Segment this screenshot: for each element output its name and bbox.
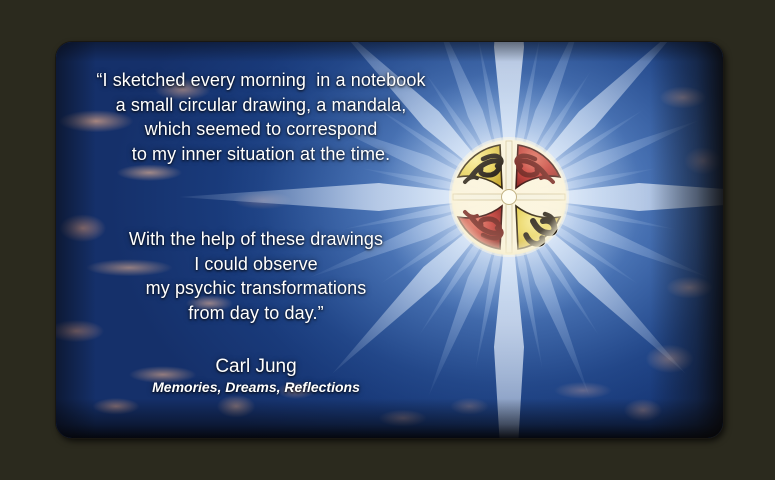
quote-line: With the help of these drawings bbox=[56, 227, 456, 252]
quote-paragraph-one: “I sketched every morning in a notebook … bbox=[56, 68, 466, 166]
quote-card: “I sketched every morning in a notebook … bbox=[56, 42, 723, 438]
quote-line: “I sketched every morning in a notebook bbox=[56, 68, 466, 93]
quote-line: a small circular drawing, a mandala, bbox=[56, 93, 466, 118]
screenshot-canvas: “I sketched every morning in a notebook … bbox=[0, 0, 775, 480]
quote-source-title: Memories, Dreams, Reflections bbox=[56, 378, 456, 396]
attribution-block: Carl Jung Memories, Dreams, Reflections bbox=[56, 355, 456, 396]
quote-line: to my inner situation at the time. bbox=[56, 142, 466, 167]
quote-line: from day to day.” bbox=[56, 301, 456, 326]
quote-line: I could observe bbox=[56, 252, 456, 277]
quote-author: Carl Jung bbox=[56, 355, 456, 378]
quote-line: my psychic transformations bbox=[56, 276, 456, 301]
quote-paragraph-two: With the help of these drawings I could … bbox=[56, 227, 456, 325]
quote-text-layer: “I sketched every morning in a notebook … bbox=[56, 42, 466, 438]
quote-line: which seemed to correspond bbox=[56, 117, 466, 142]
